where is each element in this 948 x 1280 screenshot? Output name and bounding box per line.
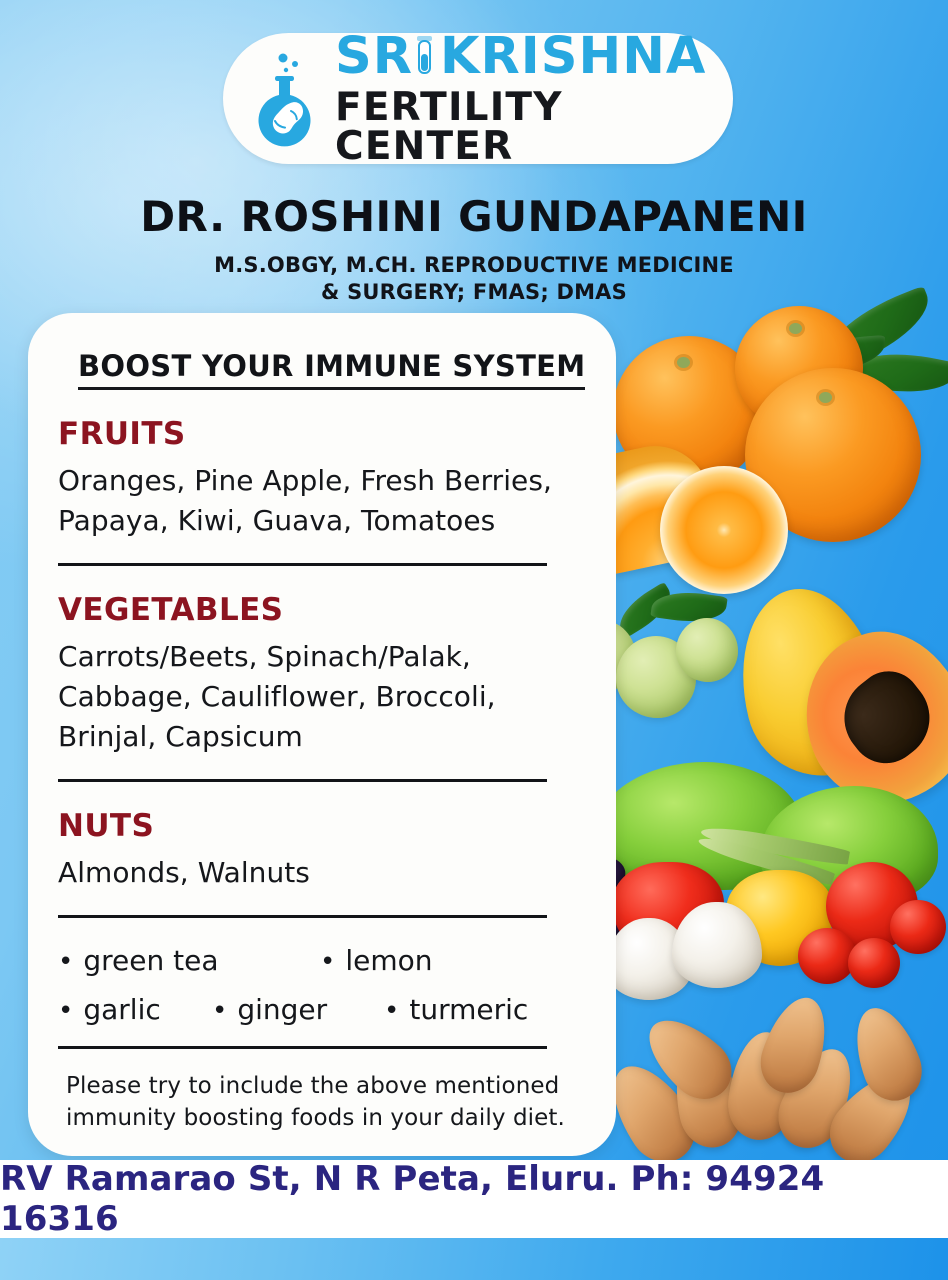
- section-body-vegetables: Carrots/Beets, Spinach/Palak, Cabbage, C…: [58, 637, 586, 757]
- almond-nut: [843, 999, 930, 1109]
- doctor-name: DR. ROSHINI GUNDAPANENI: [0, 192, 948, 241]
- almond-nut: [725, 1029, 800, 1143]
- bottom-blue-strip: [0, 1238, 948, 1280]
- extra-item-green-tea: • green tea: [58, 944, 320, 977]
- asparagus-stalk: [700, 823, 851, 867]
- vegetables-line-2: Cabbage, Cauliflower, Broccoli,: [58, 677, 586, 717]
- guava-leaf-icon: [650, 587, 727, 627]
- card-title: BOOST YOUR IMMUNE SYSTEM: [78, 349, 585, 390]
- section-body-fruits: Oranges, Pine Apple, Fresh Berries, Papa…: [58, 461, 586, 541]
- garlic-bulb: [606, 918, 692, 1000]
- orange-leaf-icon: [845, 341, 948, 405]
- immunity-content-card: BOOST YOUR IMMUNE SYSTEM FRUITS Oranges,…: [28, 313, 616, 1156]
- orange-fruit: [745, 368, 921, 542]
- poster-root: SR KRISHNA FERTILITY CENTER DR. ROSHINI …: [0, 0, 948, 1280]
- flask-embryo-icon: [245, 51, 331, 147]
- almond-nut: [666, 1039, 748, 1154]
- extra-item-ginger: • ginger: [212, 993, 384, 1026]
- diet-note-line-1: Please try to include the above mentione…: [66, 1071, 586, 1103]
- clinic-logo: SR KRISHNA FERTILITY CENTER: [223, 33, 733, 164]
- orange-fruit: [613, 336, 765, 486]
- test-tube-icon: [416, 36, 433, 78]
- logo-text-sr: SR: [335, 31, 413, 82]
- vegetables-line-1: Carrots/Beets, Spinach/Palak,: [58, 637, 586, 677]
- lettuce-greens: [760, 786, 938, 904]
- extra-item-garlic: • garlic: [58, 993, 212, 1026]
- extras-list: • green tea • lemon • garlic • g: [58, 944, 586, 1026]
- extra-item-lemon: • lemon: [320, 944, 433, 977]
- divider-after-nuts: [58, 915, 547, 918]
- guava-fruit: [676, 618, 738, 682]
- divider-before-note: [58, 1046, 547, 1049]
- yellow-bell-pepper: [726, 870, 834, 966]
- orange-leaf-icon: [799, 335, 887, 375]
- extra-label-turmeric: turmeric: [409, 993, 528, 1026]
- orange-slice: [660, 466, 788, 594]
- logo-text-fertility-center: FERTILITY CENTER: [335, 88, 733, 166]
- tomato: [826, 862, 918, 950]
- lettuce-greens: [594, 762, 804, 890]
- orange-fruit: [735, 306, 863, 430]
- tomato: [890, 900, 946, 954]
- footer-address-band: RV Ramarao St, N R Peta, Eluru. Ph: 9492…: [0, 1160, 948, 1238]
- fruits-line-2: Papaya, Kiwi, Guava, Tomatoes: [58, 501, 586, 541]
- divider-after-vegetables: [58, 779, 547, 782]
- logo-text-krishna: KRISHNA: [440, 31, 706, 82]
- section-vegetables: VEGETABLES Carrots/Beets, Spinach/Palak,…: [58, 592, 586, 757]
- doctor-credentials: M.S.OBGY, M.CH. REPRODUCTIVE MEDICINE & …: [0, 252, 948, 305]
- section-fruits: FRUITS Oranges, Pine Apple, Fresh Berrie…: [58, 416, 586, 541]
- papaya-half-cut: [782, 610, 948, 824]
- asparagus-stalk: [697, 833, 836, 887]
- tomato: [848, 938, 900, 988]
- extra-item-turmeric: • turmeric: [384, 993, 528, 1026]
- papaya-whole: [721, 574, 899, 791]
- almond-nut: [752, 989, 837, 1100]
- diet-note: Please try to include the above mentione…: [58, 1071, 586, 1134]
- section-heading-nuts: NUTS: [58, 808, 586, 844]
- guava-leaf-icon: [611, 582, 678, 639]
- nuts-line-1: Almonds, Walnuts: [58, 853, 586, 893]
- almond-nut: [634, 1004, 744, 1111]
- almond-nut: [768, 1038, 867, 1158]
- bullet-icon: •: [320, 949, 335, 975]
- bullet-icon: •: [58, 998, 73, 1024]
- section-heading-vegetables: VEGETABLES: [58, 592, 586, 628]
- bullet-icon: •: [58, 949, 73, 975]
- vegetables-line-3: Brinjal, Capsicum: [58, 717, 586, 757]
- garlic-bulb: [672, 902, 762, 988]
- doctor-credentials-line-2: & SURGERY; FMAS; DMAS: [0, 279, 948, 306]
- logo-wordmark: SR KRISHNA FERTILITY CENTER: [335, 31, 733, 166]
- extra-label-green-tea: green tea: [83, 944, 218, 977]
- extra-label-ginger: ginger: [237, 993, 327, 1026]
- papaya-seeds: [827, 658, 947, 778]
- red-bell-pepper: [612, 862, 724, 960]
- section-body-nuts: Almonds, Walnuts: [58, 853, 586, 893]
- divider-after-fruits: [58, 563, 547, 566]
- doctor-credentials-line-1: M.S.OBGY, M.CH. REPRODUCTIVE MEDICINE: [0, 252, 948, 279]
- extra-label-garlic: garlic: [83, 993, 160, 1026]
- bullet-icon: •: [384, 998, 399, 1024]
- guava-fruit: [616, 636, 696, 718]
- fruits-line-1: Oranges, Pine Apple, Fresh Berries,: [58, 461, 586, 501]
- tomato: [798, 928, 856, 984]
- extras-row-2: • garlic • ginger • turmeric: [58, 993, 586, 1026]
- section-heading-fruits: FRUITS: [58, 416, 586, 452]
- diet-note-line-2: immunity boosting foods in your daily di…: [66, 1103, 586, 1135]
- doctor-header: DR. ROSHINI GUNDAPANENI M.S.OBGY, M.CH. …: [0, 192, 948, 305]
- footer-address-text: RV Ramarao St, N R Peta, Eluru. Ph: 9492…: [0, 1159, 948, 1239]
- section-nuts: NUTS Almonds, Walnuts: [58, 808, 586, 893]
- extra-label-lemon: lemon: [345, 944, 432, 977]
- extras-row-1: • green tea • lemon: [58, 944, 586, 977]
- bullet-icon: •: [212, 998, 227, 1024]
